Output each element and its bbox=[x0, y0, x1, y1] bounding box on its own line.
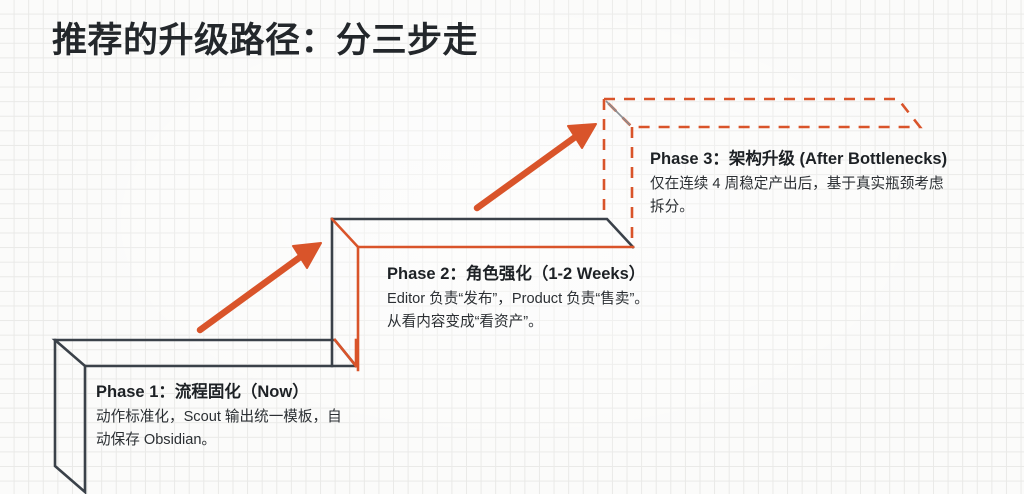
phase-2-body: Editor 负责“发布”，Product 负责“售卖”。 从看内容变成“看资产… bbox=[387, 288, 727, 333]
caption-phase-2: Phase 2：角色强化（1-2 Weeks） Editor 负责“发布”，Pr… bbox=[387, 263, 727, 333]
page-title: 推荐的升级路径：分三步走 bbox=[52, 12, 478, 63]
phase-3-body-line-1: 仅在连续 4 周稳定产出后，基于真实瓶颈考虑 bbox=[650, 173, 1020, 196]
phase-1-title: Phase 1：流程固化（Now） bbox=[96, 381, 426, 403]
arrow-step1-to-step2 bbox=[200, 243, 321, 330]
slide-canvas: 推荐的升级路径：分三步走 bbox=[0, 0, 1024, 494]
phase-1-body-line-1: 动作标准化，Scout 输出统一模板，自 bbox=[96, 406, 426, 429]
phase-2-body-line-1: Editor 负责“发布”，Product 负责“售卖”。 bbox=[387, 288, 727, 311]
phase-1-body: 动作标准化，Scout 输出统一模板，自 动保存 Obsidian。 bbox=[96, 406, 426, 451]
phase-1-body-line-2: 动保存 Obsidian。 bbox=[96, 429, 426, 452]
arrow-step2-to-step3 bbox=[477, 124, 596, 208]
phase-3-body: 仅在连续 4 周稳定产出后，基于真实瓶颈考虑 拆分。 bbox=[650, 173, 1020, 218]
phase-2-title: Phase 2：角色强化（1-2 Weeks） bbox=[387, 263, 727, 285]
phase-3-body-line-2: 拆分。 bbox=[650, 196, 1020, 219]
step-3-hidden-corner-hint bbox=[606, 101, 630, 125]
phase-2-body-line-2: 从看内容变成“看资产”。 bbox=[387, 311, 727, 334]
caption-phase-1: Phase 1：流程固化（Now） 动作标准化，Scout 输出统一模板，自 动… bbox=[96, 381, 426, 451]
phase-3-title: Phase 3：架构升级 (After Bottlenecks) bbox=[650, 148, 1020, 170]
caption-phase-3: Phase 3：架构升级 (After Bottlenecks) 仅在连续 4 … bbox=[650, 148, 1020, 218]
